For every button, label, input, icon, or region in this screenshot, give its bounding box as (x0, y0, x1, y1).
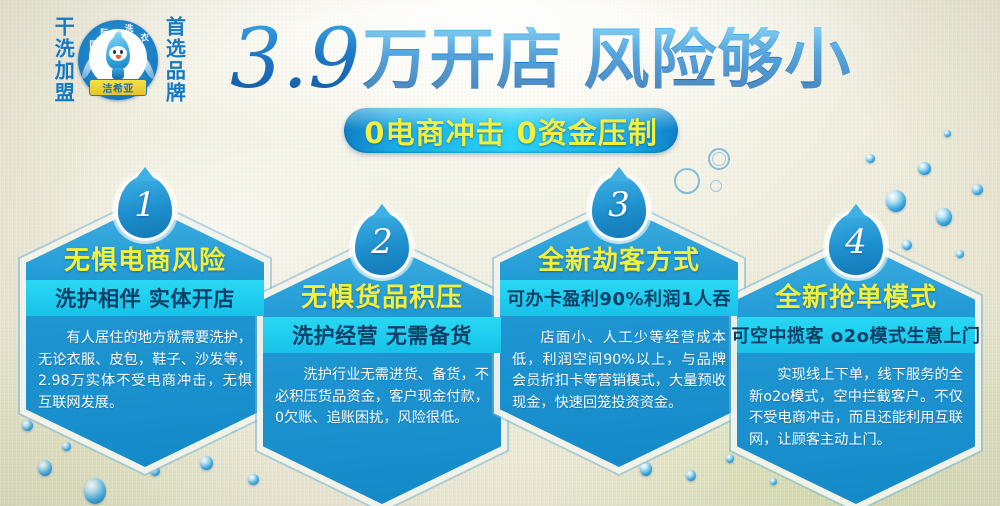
card-number-3: 3 (592, 176, 646, 238)
card-band-text-2: 洗护经营 无需备货 (292, 320, 472, 350)
feature-card-3[interactable]: 3 全新劫客方式 可办卡盈利90%利润1人吞 店面小、人工少等经营成本低，利润空… (492, 196, 746, 476)
card-title-4: 全新抢单模式 (737, 277, 975, 314)
card-number-badge-1: 1 (118, 176, 172, 238)
logo-left-vertical-text: 干洗加盟 (52, 16, 73, 104)
logo-badge: 国 际 洗 衣 ✦ ✦ (78, 20, 158, 100)
subtitle-pill: 0电商冲击 0资金压制 (344, 108, 678, 153)
card-band-text-3: 可办卡盈利90%利润1人吞 (507, 285, 731, 311)
card-band-text-4: 可空中揽客 o2o模式生意上门 (731, 322, 980, 348)
card-band-4: 可空中揽客 o2o模式生意上门 (737, 317, 975, 353)
card-number-2: 2 (355, 213, 409, 275)
brand-logo-lockup: 干洗加盟 国 际 洗 衣 ✦ ✦ (52, 8, 184, 112)
headline-part-1: 万开店 (362, 27, 563, 93)
card-number-badge-3: 3 (592, 176, 646, 238)
card-number-badge-2: 2 (355, 213, 409, 275)
card-title-1: 无惧电商风险 (26, 240, 264, 277)
card-band-2: 洗护经营 无需备货 (263, 317, 501, 353)
card-band-3: 可办卡盈利90%利润1人吞 (500, 280, 738, 316)
headline: 3.9 万开店 风险够小 (230, 14, 870, 106)
card-band-1: 洗护相伴 实体开店 (26, 280, 264, 316)
card-body-2: 洗护行业无需进货、备货，不必积压货品资金，客户现金付款，0欠账、追账困扰，风险很… (275, 365, 489, 430)
promo-banner: 干洗加盟 国 际 洗 衣 ✦ ✦ (0, 0, 1000, 506)
headline-part-2: 风险够小 (583, 27, 851, 93)
banner-header: 干洗加盟 国 际 洗 衣 ✦ ✦ (0, 0, 1000, 160)
card-number-badge-4: 4 (829, 213, 883, 275)
feature-card-2[interactable]: 2 无惧货品积压 洗护经营 无需备货 洗护行业无需进货、备货，不必积压货品资金，… (255, 233, 509, 506)
card-body-3: 店面小、人工少等经营成本低，利润空间90%以上，与品牌会员折扣卡等营销模式，大量… (512, 328, 726, 414)
card-number-1: 1 (118, 176, 172, 238)
card-title-3: 全新劫客方式 (500, 240, 738, 277)
logo-brand-name: 洁希亚 (89, 79, 147, 96)
card-title-2: 无惧货品积压 (263, 277, 501, 314)
headline-number: 3.9 (230, 19, 362, 101)
card-band-text-1: 洗护相伴 实体开店 (55, 283, 235, 313)
subtitle-pill-text: 0电商冲击 0资金压制 (364, 110, 657, 152)
feature-card-4[interactable]: 4 全新抢单模式 可空中揽客 o2o模式生意上门 实现线上下单，线下服务的全新o… (729, 233, 983, 506)
logo-right-vertical-text: 首选品牌 (163, 16, 184, 104)
water-drop-mascot-icon (102, 36, 134, 80)
card-body-4: 实现线上下单，线下服务的全新o2o模式，空中拦截客户。不仅不受电商冲击，而且还能… (749, 365, 963, 451)
card-number-4: 4 (829, 213, 883, 275)
card-body-1: 有人居住的地方就需要洗护，无论衣服、皮包，鞋子、沙发等，2.98万实体不受电商冲… (38, 328, 252, 414)
feature-card-1[interactable]: 1 无惧电商风险 洗护相伴 实体开店 有人居住的地方就需要洗护，无论衣服、皮包，… (18, 196, 272, 476)
